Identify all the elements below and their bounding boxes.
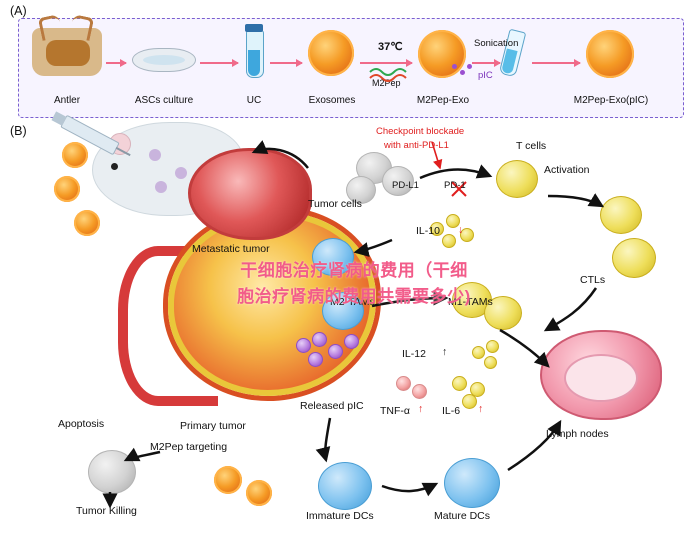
label-tnfa: TNF-α <box>380 405 410 417</box>
exosome-particle-3 <box>586 30 634 78</box>
label-lymph-nodes: Lymph nodes <box>546 428 609 440</box>
caption-m2pep-exo: M2Pep-Exo <box>404 95 482 106</box>
cytokine-dot-tnfa <box>412 384 427 399</box>
cytokine-dot-il12 <box>484 356 497 369</box>
cytokine-dot-il10 <box>442 234 456 248</box>
watermark-line-1: 干细胞治疗肾病的费用（干细 <box>176 258 532 284</box>
tube-fill <box>248 50 260 76</box>
label-il12: IL-12 <box>402 348 426 360</box>
pic-particle <box>308 352 323 367</box>
pic-particle <box>328 344 343 359</box>
exosome-decor <box>214 466 242 494</box>
immature-dc-cell <box>318 462 372 510</box>
label-il10: IL-10 <box>416 225 440 237</box>
arrow-culture-to-uc <box>200 62 238 64</box>
mouse-eye <box>111 163 118 170</box>
panel-b-label: (B) <box>10 124 27 138</box>
tube-cap <box>245 24 263 32</box>
antler-deer-icon <box>32 28 102 76</box>
watermark-overlay: 干细胞治疗肾病的费用（干细 胞治疗肾病的费用共需要多少) <box>176 258 532 310</box>
uc-tube-icon <box>246 30 264 78</box>
label-temperature: 37℃ <box>378 40 403 53</box>
cytokine-dot-il12 <box>486 340 499 353</box>
label-checkpoint-blockade-line2: with anti-PD-L1 <box>384 140 449 151</box>
label-il6: IL-6 <box>442 405 460 417</box>
label-tumor-killing: Tumor Killing <box>76 505 137 517</box>
label-primary-tumor: Primary tumor <box>180 420 246 432</box>
arrow-tumorcells-to-tcells <box>420 170 490 179</box>
caption-ascs-culture: ASCs culture <box>122 95 206 106</box>
deer-body <box>46 40 90 66</box>
panel-a-label: (A) <box>10 4 27 18</box>
t-cell <box>496 160 538 198</box>
label-sonication: Sonication <box>474 38 518 49</box>
pic-dot <box>460 70 465 75</box>
dish-inner <box>143 55 185 65</box>
lymph-node-inner <box>564 354 638 402</box>
lymph-node-graphic <box>540 330 662 420</box>
label-mature-dcs: Mature DCs <box>434 510 490 522</box>
label-activation: Activation <box>544 164 590 176</box>
caption-antler: Antler <box>34 95 100 106</box>
label-il10-down-arrow: ↓ <box>458 224 463 236</box>
label-pd-l1: PD-L1 <box>392 180 419 191</box>
mouse-spot <box>175 167 187 179</box>
cytokine-dot-il12 <box>472 346 485 359</box>
arrow-exosomes-to-m2pep <box>360 62 412 64</box>
label-released-pic: Released pIC <box>300 400 364 412</box>
cytokine-dot-tnfa <box>396 376 411 391</box>
exosome-decor <box>54 176 80 202</box>
label-m2pep: M2Pep <box>372 78 401 88</box>
watermark-line-2: 胞治疗肾病的费用共需要多少) <box>176 284 532 310</box>
figure-root: (A) Antler ASCs culture UC Exosomes M2Pe… <box>0 0 700 547</box>
arrow-tcell-activation <box>548 196 602 206</box>
label-m2pep-targeting: M2Pep targeting <box>150 441 227 453</box>
label-apoptosis: Apoptosis <box>58 418 104 430</box>
arrow-immature-to-mature-dc <box>382 484 436 491</box>
arrow-uc-to-exosomes <box>270 62 302 64</box>
caption-m2pep-exo-pic: M2Pep-Exo(pIC) <box>552 95 670 106</box>
label-il6-up-arrow: ↑ <box>478 403 483 415</box>
culture-dish-icon <box>132 48 196 72</box>
arrow-m1-to-lymph <box>500 330 548 366</box>
label-metastatic-tumor: Metastatic tumor <box>192 243 270 255</box>
exosome-decor <box>74 210 100 236</box>
label-immature-dcs: Immature DCs <box>306 510 374 522</box>
label-tumor-cells: Tumor cells <box>308 198 362 210</box>
exosome-decor <box>246 480 272 506</box>
tube2-fill <box>501 49 517 75</box>
exosome-decor <box>62 142 88 168</box>
caption-uc: UC <box>228 95 280 106</box>
ctl-cell <box>612 238 656 278</box>
pic-particle <box>312 332 327 347</box>
arrow-il10-to-m2tam <box>356 240 392 252</box>
arrow-m2pep-to-sonication <box>472 62 500 64</box>
pic-particle <box>296 338 311 353</box>
pic-particle <box>344 334 359 349</box>
cytokine-dot-il6 <box>452 376 467 391</box>
mouse-spot <box>155 181 167 193</box>
mature-dc-cell <box>444 458 500 508</box>
exosome-particle-1 <box>308 30 354 76</box>
cytokine-dot-il6 <box>462 394 477 409</box>
arrow-sonication-to-final <box>532 62 580 64</box>
metastatic-tumor-graphic <box>188 148 312 240</box>
label-tnfa-up-arrow: ↑ <box>418 403 423 415</box>
label-pic: pIC <box>478 70 493 81</box>
arrow-ctl-to-lymph <box>546 288 596 330</box>
label-pd-1: PD-1 <box>444 180 466 191</box>
label-t-cells: T cells <box>516 140 546 152</box>
pic-dot <box>452 64 457 69</box>
caption-exosomes: Exosomes <box>298 95 366 106</box>
arrow-to-immature-dc <box>325 418 330 460</box>
pic-dot <box>467 64 472 69</box>
arrow-antler-to-culture <box>106 62 126 64</box>
t-cell <box>600 196 642 234</box>
label-il12-up-arrow: ↑ <box>442 346 447 358</box>
label-ctls: CTLs <box>580 274 605 286</box>
pic-dots-group <box>452 64 478 78</box>
apoptotic-cell <box>88 450 136 494</box>
label-checkpoint-blockade-line1: Checkpoint blockade <box>376 126 464 137</box>
mouse-spot <box>149 149 161 161</box>
